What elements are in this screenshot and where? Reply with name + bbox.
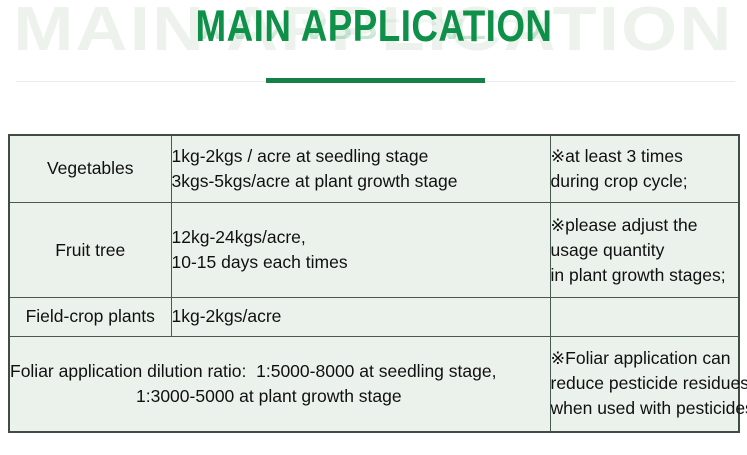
page-title-wrapper: MAIN APPLICATION — [0, 2, 747, 46]
dosage-line: 1kg-2kgs / acre at seedling stage — [172, 144, 550, 169]
foliar-ratio-line2: 1:3000-5000 at plant growth stage — [10, 384, 550, 409]
dosage-line: 1kg-2kgs/acre — [172, 304, 550, 329]
page-header: MAIN APPLICATION MAIN APPLICATION MAIN A… — [0, 0, 747, 112]
note-line: when used with pesticides — [551, 396, 739, 421]
application-table: Vegetables 1kg-2kgs / acre at seedling s… — [8, 134, 740, 433]
table-row-foliar: Foliar application dilution ratio: 1:500… — [9, 336, 739, 432]
foliar-ratio: 1:5000-8000 at seedling stage, — [256, 361, 496, 381]
dosage-cell: 12kg-24kgs/acre, 10-15 days each times — [171, 202, 550, 297]
table-row: Vegetables 1kg-2kgs / acre at seedling s… — [9, 135, 739, 202]
note-line: ※Foliar application can — [551, 346, 739, 371]
dosage-line: 3kgs-5kgs/acre at plant growth stage — [172, 169, 550, 194]
note-line: reduce pesticide residues — [551, 371, 739, 396]
foliar-label: Foliar application dilution ratio: — [10, 361, 246, 381]
crop-name-cell: Field-crop plants — [9, 298, 171, 337]
note-line: during crop cycle; — [551, 169, 739, 194]
note-cell: ※Foliar application can reduce pesticide… — [550, 336, 739, 432]
page-title: MAIN APPLICATION — [195, 2, 552, 51]
header-divider-accent — [266, 78, 485, 83]
note-line: ※at least 3 times — [551, 144, 739, 169]
note-cell: ※please adjust the usage quantity in pla… — [550, 202, 739, 297]
table-row: Field-crop plants 1kg-2kgs/acre — [9, 298, 739, 337]
crop-name-cell: Vegetables — [9, 135, 171, 202]
crop-name-cell: Fruit tree — [9, 202, 171, 297]
dosage-line: 12kg-24kgs/acre, — [172, 225, 550, 250]
foliar-dilution-cell: Foliar application dilution ratio: 1:500… — [9, 336, 550, 432]
table-row: Fruit tree 12kg-24kgs/acre, 10-15 days e… — [9, 202, 739, 297]
note-line: in plant growth stages; — [551, 263, 739, 288]
note-cell-empty — [550, 298, 739, 337]
note-cell: ※at least 3 times during crop cycle; — [550, 135, 739, 202]
note-line: ※please adjust the — [551, 213, 739, 238]
dosage-line: 10-15 days each times — [172, 250, 550, 275]
note-line: usage quantity — [551, 238, 739, 263]
dosage-cell: 1kg-2kgs/acre — [171, 298, 550, 337]
dosage-cell: 1kg-2kgs / acre at seedling stage 3kgs-5… — [171, 135, 550, 202]
foliar-line: Foliar application dilution ratio: 1:500… — [10, 359, 550, 384]
